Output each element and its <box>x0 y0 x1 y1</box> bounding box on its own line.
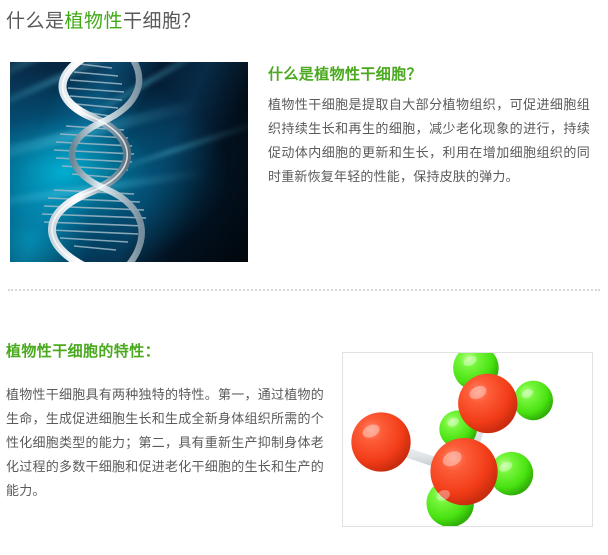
page-title-highlight: 植物性 <box>65 10 124 32</box>
top-text-column: 什么是植物性干细胞？ 植物性干细胞是提取自大部分植物组织，可促进细胞组织持续生长… <box>268 63 590 190</box>
molecule-illustration <box>343 353 592 526</box>
bottom-section-paragraph: 植物性干细胞具有两种独特的特性。第一，通过植物的生命，生成促进细胞生长和生成全新… <box>6 384 324 504</box>
section-divider <box>8 289 600 291</box>
page-title-suffix: 干细胞？ <box>123 10 201 32</box>
section-what-is-plant-stem-cell: 什么是植物性干细胞？ 植物性干细胞是提取自大部分植物组织，可促进细胞组织持续生长… <box>0 55 608 280</box>
molecule-image <box>342 352 593 527</box>
section-characteristics: 植物性干细胞的特性： 植物性干细胞具有两种独特的特性。第一，通过植物的生命，生成… <box>0 340 608 540</box>
page-title-prefix: 什么是 <box>6 10 65 32</box>
dna-helix-illustration <box>32 62 158 262</box>
bottom-section-heading: 植物性干细胞的特性： <box>6 340 324 362</box>
top-section-paragraph: 植物性干细胞是提取自大部分植物组织，可促进细胞组织持续生长和再生的细胞，减少老化… <box>268 94 590 190</box>
page-title: 什么是植物性干细胞？ <box>6 8 201 34</box>
dna-helix-image <box>10 62 248 262</box>
top-section-heading: 什么是植物性干细胞？ <box>268 63 590 85</box>
bottom-text-column: 植物性干细胞的特性： 植物性干细胞具有两种独特的特性。第一，通过植物的生命，生成… <box>6 340 324 504</box>
